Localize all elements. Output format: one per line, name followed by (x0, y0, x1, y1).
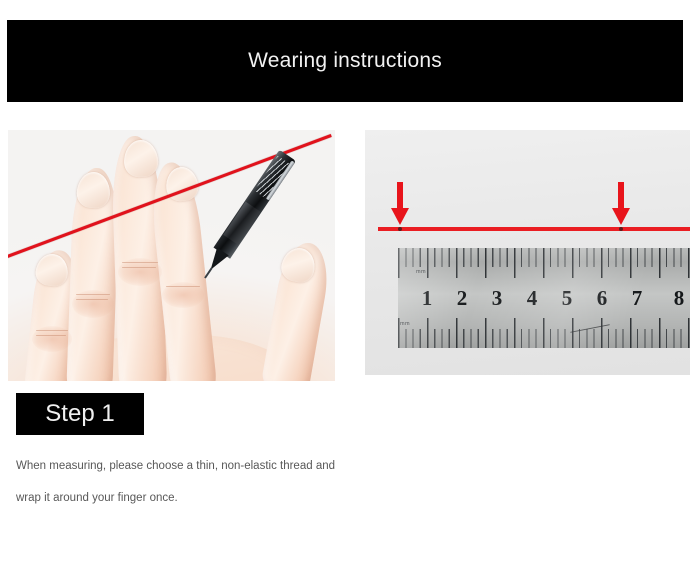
step-1-panel: Step 1 When measuring, please choose a t… (8, 130, 335, 381)
ruler-number: 4 (527, 286, 538, 311)
ruler-ticks-top-major (398, 248, 690, 278)
ruler-number: 5 (562, 286, 573, 311)
ruler-number: 6 (597, 286, 608, 311)
ruler-number-scale: 1 2 3 4 5 6 7 8 (398, 281, 690, 315)
ruler-number: 1 (422, 286, 433, 311)
step-1-caption-line-2: wrap it around your finger once. (16, 492, 178, 504)
skin-crease-6 (122, 267, 156, 268)
ruler-unit-label-top: mm (416, 269, 426, 275)
ruler-unit-label-bottom: mm (400, 321, 410, 327)
arrow-stem (397, 182, 403, 210)
page-title: Wearing instructions (248, 49, 442, 73)
ruler-number: 8 (674, 286, 685, 311)
arrow-head (612, 208, 630, 225)
thread-endpoint-left (398, 227, 402, 231)
steps-container: Step 1 When measuring, please choose a t… (0, 130, 690, 550)
ruler-number: 3 (492, 286, 503, 311)
skin-crease-3 (76, 294, 110, 295)
arrow-head (391, 208, 409, 225)
arrow-stem (618, 182, 624, 210)
pencil-lead-tip (204, 267, 212, 278)
steel-ruler: mm mm 1 2 3 4 5 6 7 8 (398, 248, 690, 348)
step-1-caption-line-1: When measuring, please choose a thin, no… (16, 460, 335, 472)
step-1-badge-label: Step 1 (45, 400, 114, 428)
wearing-instructions-banner: Wearing instructions (7, 20, 683, 102)
ruler-ticks-bottom-major (398, 318, 690, 348)
skin-crease-5 (122, 262, 158, 263)
step-1-badge: Step 1 (16, 393, 144, 435)
skin-crease-1 (36, 330, 68, 331)
red-thread-line (378, 227, 690, 231)
ruler-number: 7 (632, 286, 643, 311)
hand-with-thread-photo (8, 130, 335, 381)
step-2-panel: mm mm 1 2 3 4 5 6 7 8 Step 2 After strai… (365, 130, 690, 375)
skin-crease-7 (166, 286, 200, 287)
skin-crease-4 (76, 299, 108, 300)
skin-crease-2 (36, 335, 66, 336)
ruler-measuring-thread-photo: mm mm 1 2 3 4 5 6 7 8 (365, 130, 690, 375)
thread-endpoint-right (619, 227, 623, 231)
ruler-number: 2 (457, 286, 468, 311)
